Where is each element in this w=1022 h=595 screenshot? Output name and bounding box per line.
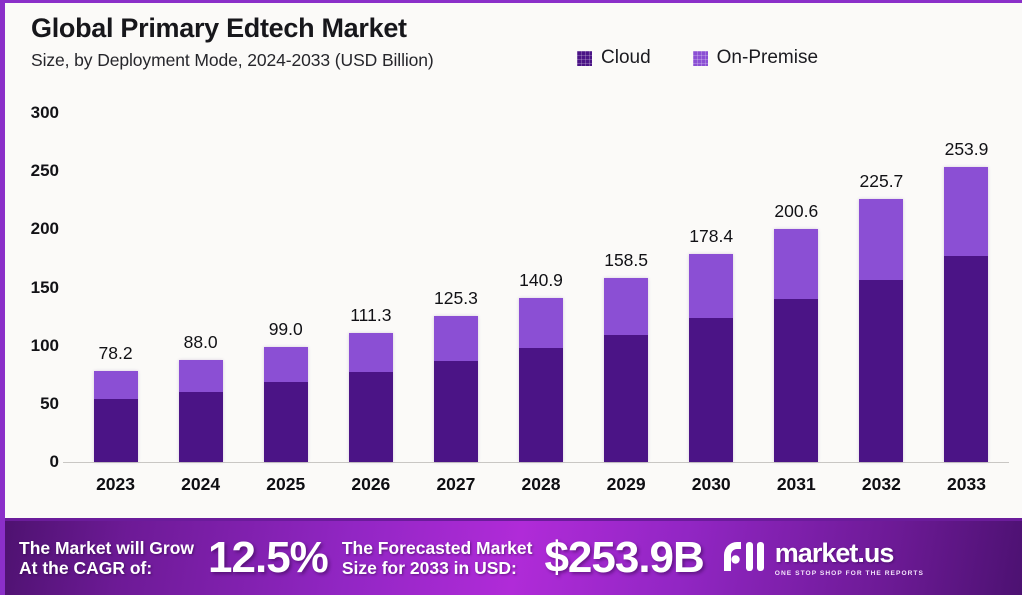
x-axis-tick-label: 2033 — [947, 474, 986, 495]
x-axis-tick-label: 2030 — [692, 474, 731, 495]
bar-segment-on-premise[interactable] — [604, 278, 648, 335]
infographic-root: Global Primary Edtech Market Size, by De… — [0, 0, 1022, 595]
chart-legend: CloudOn-Premise — [577, 47, 818, 69]
bar-segment-cloud[interactable] — [604, 335, 648, 462]
stacked-bar[interactable] — [944, 167, 988, 462]
legend-swatch-icon — [693, 51, 708, 66]
bar-segment-on-premise[interactable] — [944, 167, 988, 256]
bar-group: 140.92028 — [498, 113, 583, 462]
bar-group: 253.92033 — [924, 113, 1009, 462]
market-us-logo: market.us ONE STOP SHOP FOR THE REPORTS — [720, 538, 924, 579]
bar-group: 225.72032 — [839, 113, 924, 462]
bar-segment-cloud[interactable] — [434, 361, 478, 462]
bar-group: 88.02024 — [158, 113, 243, 462]
bar-segment-on-premise[interactable] — [859, 199, 903, 279]
bar-value-label: 140.9 — [519, 270, 563, 291]
bar-segment-cloud[interactable] — [689, 318, 733, 462]
bar-value-label: 225.7 — [859, 171, 903, 192]
forecast-caption: The Forecasted Market Size for 2033 in U… — [342, 538, 533, 579]
bar-series-container: 78.2202388.0202499.02025111.32026125.320… — [73, 113, 1009, 462]
plot-area: 050100150200250300 78.2202388.0202499.02… — [73, 113, 1009, 462]
bar-group: 78.22023 — [73, 113, 158, 462]
bar-group: 200.62031 — [754, 113, 839, 462]
bar-value-label: 88.0 — [184, 332, 218, 353]
bar-segment-on-premise[interactable] — [774, 229, 818, 299]
x-axis-tick-label: 2026 — [351, 474, 390, 495]
x-axis-tick-label: 2025 — [266, 474, 305, 495]
stacked-bar[interactable] — [264, 347, 308, 462]
forecast-value: $253.9B — [544, 533, 703, 583]
bar-segment-cloud[interactable] — [859, 280, 903, 462]
page-title: Global Primary Edtech Market — [31, 13, 434, 44]
cagr-caption-line-1: The Market will Grow — [19, 538, 194, 558]
bar-segment-cloud[interactable] — [264, 382, 308, 462]
forecast-caption-line-2: Size for 2033 in USD: — [342, 558, 533, 578]
stacked-bar[interactable] — [774, 229, 818, 462]
logo-name: market.us — [775, 540, 924, 567]
x-axis-tick-label: 2028 — [522, 474, 561, 495]
logo-tagline: ONE STOP SHOP FOR THE REPORTS — [775, 570, 924, 577]
bar-value-label: 200.6 — [774, 201, 818, 222]
bar-segment-on-premise[interactable] — [94, 371, 138, 399]
chart-subtitle: Size, by Deployment Mode, 2024-2033 (USD… — [31, 50, 434, 71]
stacked-bar[interactable] — [179, 360, 223, 462]
bar-value-label: 253.9 — [945, 139, 989, 160]
bar-segment-on-premise[interactable] — [519, 298, 563, 348]
y-axis-tick-label: 100 — [31, 336, 73, 356]
stacked-bar[interactable] — [434, 316, 478, 462]
x-axis-tick-label: 2023 — [96, 474, 135, 495]
bar-value-label: 158.5 — [604, 250, 648, 271]
x-axis-tick-label: 2032 — [862, 474, 901, 495]
bar-value-label: 99.0 — [269, 319, 303, 340]
bar-segment-cloud[interactable] — [519, 348, 563, 462]
stacked-bar[interactable] — [604, 278, 648, 462]
bar-segment-cloud[interactable] — [774, 299, 818, 462]
summary-banner: The Market will Grow At the CAGR of: 12.… — [5, 518, 1022, 595]
bar-segment-cloud[interactable] — [944, 256, 988, 462]
y-axis-tick-label: 300 — [31, 103, 73, 123]
market-us-logo-mark-icon — [720, 538, 766, 579]
bar-segment-on-premise[interactable] — [349, 333, 393, 373]
chart-header: Global Primary Edtech Market Size, by De… — [31, 13, 434, 71]
y-axis-tick-label: 200 — [31, 219, 73, 239]
y-axis-tick-label: 150 — [31, 278, 73, 298]
stacked-bar[interactable] — [859, 199, 903, 462]
x-axis-tick-label: 2027 — [436, 474, 475, 495]
legend-item-on-premise: On-Premise — [693, 47, 818, 69]
y-axis-tick-label: 50 — [40, 394, 73, 414]
stacked-bar[interactable] — [519, 298, 563, 462]
cagr-caption-line-2: At the CAGR of: — [19, 558, 194, 578]
bar-value-label: 125.3 — [434, 288, 478, 309]
bar-segment-on-premise[interactable] — [689, 254, 733, 318]
stacked-bar[interactable] — [349, 333, 393, 462]
market-us-logo-text: market.us ONE STOP SHOP FOR THE REPORTS — [775, 540, 924, 577]
x-axis-baseline — [63, 462, 1009, 463]
bar-segment-cloud[interactable] — [349, 372, 393, 462]
y-axis-tick-label: 250 — [31, 161, 73, 181]
bar-group: 178.42030 — [669, 113, 754, 462]
bar-segment-on-premise[interactable] — [434, 316, 478, 361]
bar-group: 99.02025 — [243, 113, 328, 462]
stacked-bar[interactable] — [689, 254, 733, 462]
bar-value-label: 111.3 — [350, 305, 391, 326]
legend-swatch-icon — [577, 51, 592, 66]
bar-group: 158.52029 — [584, 113, 669, 462]
legend-label: Cloud — [601, 47, 651, 69]
bar-value-label: 178.4 — [689, 226, 733, 247]
forecast-caption-line-1: The Forecasted Market — [342, 538, 533, 558]
x-axis-tick-label: 2029 — [607, 474, 646, 495]
bar-group: 125.32027 — [413, 113, 498, 462]
bar-value-label: 78.2 — [99, 343, 133, 364]
x-axis-tick-label: 2031 — [777, 474, 816, 495]
cagr-caption: The Market will Grow At the CAGR of: — [19, 538, 194, 579]
bar-group: 111.32026 — [328, 113, 413, 462]
legend-label: On-Premise — [717, 47, 818, 69]
bar-segment-cloud[interactable] — [94, 399, 138, 462]
bar-segment-on-premise[interactable] — [264, 347, 308, 382]
x-axis-tick-label: 2024 — [181, 474, 220, 495]
legend-item-cloud: Cloud — [577, 47, 651, 69]
bar-segment-on-premise[interactable] — [179, 360, 223, 392]
stacked-bar[interactable] — [94, 371, 138, 462]
bar-segment-cloud[interactable] — [179, 392, 223, 462]
cagr-value: 12.5% — [208, 533, 328, 583]
